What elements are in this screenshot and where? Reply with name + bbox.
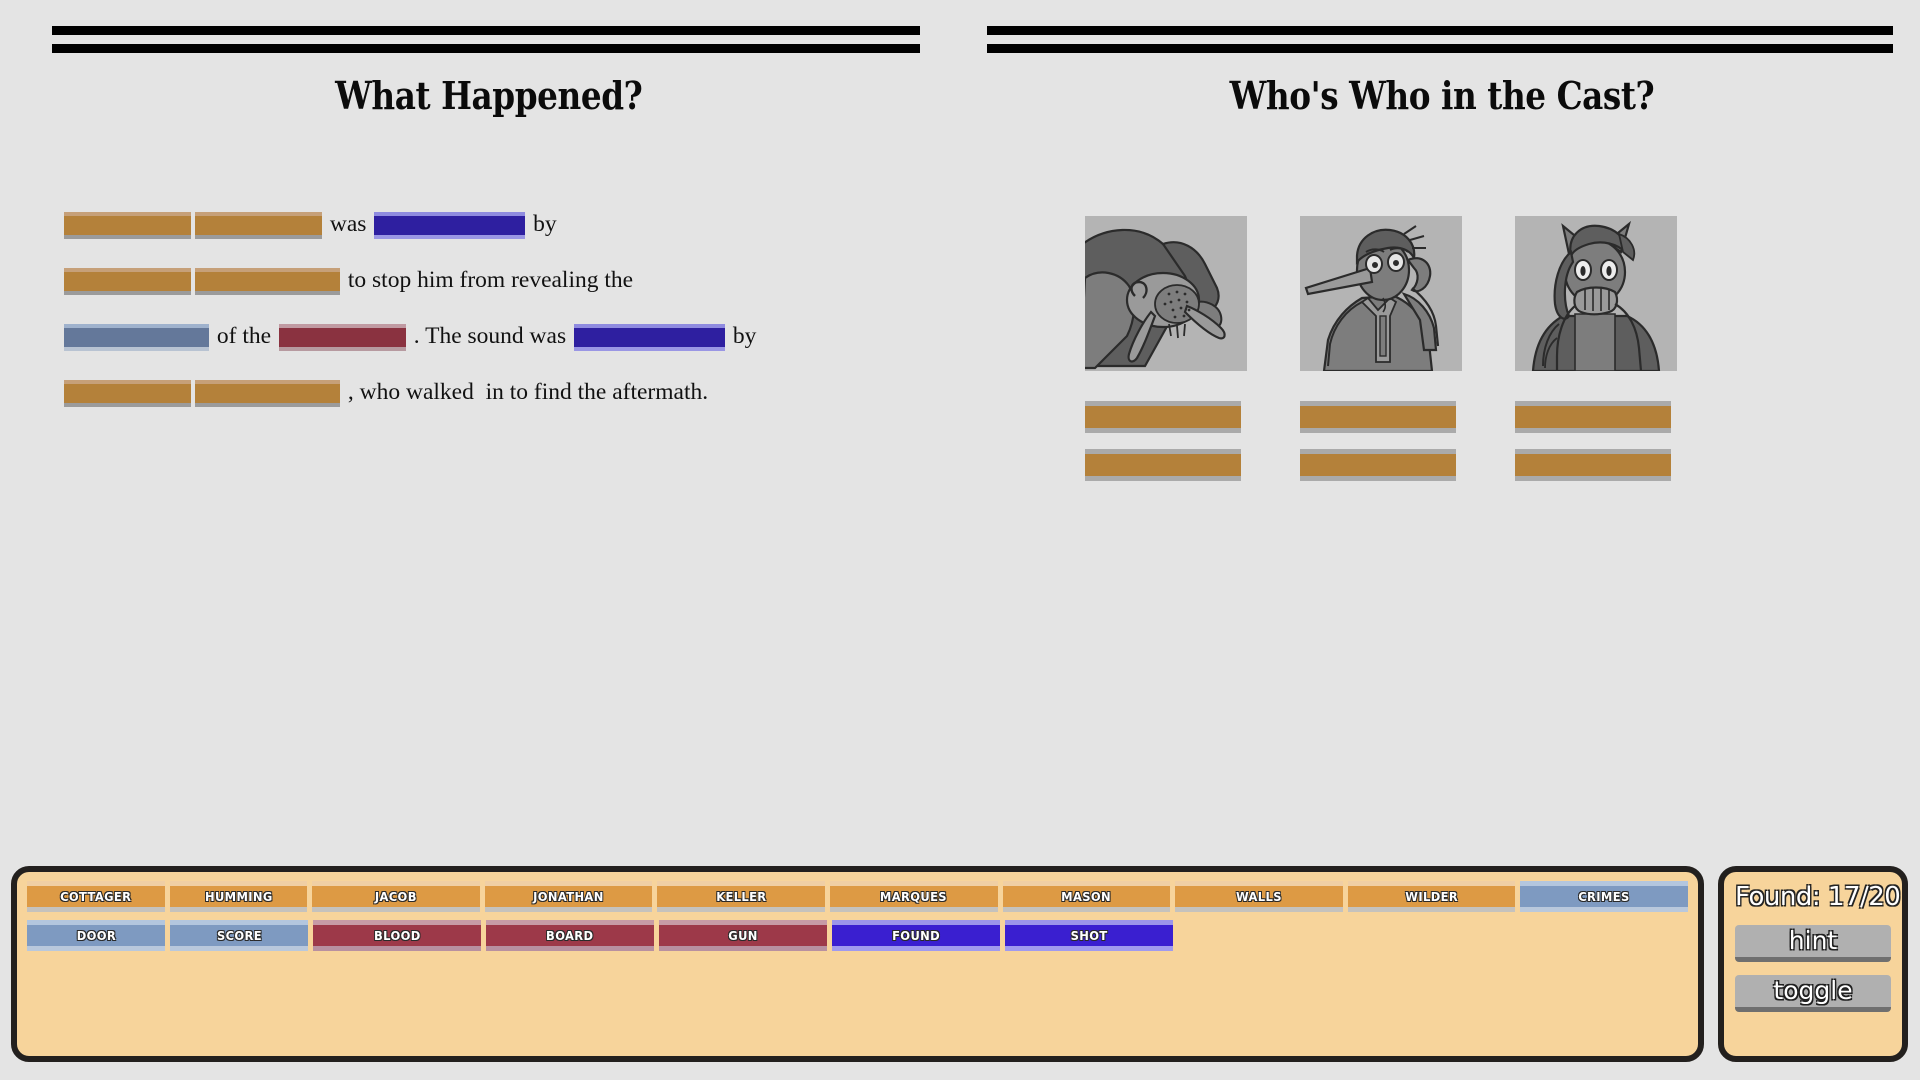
story-text: of the: [211, 323, 277, 349]
header-rule-top: [987, 26, 1893, 35]
word-tile-blood[interactable]: BLOOD: [313, 920, 481, 951]
story-text: , who walked in to find the aftermath.: [342, 379, 708, 405]
word-tile-gun[interactable]: GUN: [659, 920, 827, 951]
story-text: . The sound was: [408, 323, 572, 349]
cast-card: [1515, 216, 1677, 497]
word-tile-keller[interactable]: KELLER: [657, 881, 825, 912]
word-tile-label: KELLER: [716, 889, 766, 904]
cast-card: [1300, 216, 1462, 497]
word-tile-label: JACOB: [375, 889, 417, 904]
status-panel: Found: 17/20 hint toggle: [1718, 866, 1908, 1062]
cast-blank-slot-person[interactable]: [1085, 449, 1241, 481]
word-tile-door[interactable]: DOOR: [27, 920, 165, 951]
word-tile-board[interactable]: BOARD: [486, 920, 654, 951]
header-rule-bottom: [987, 44, 1893, 53]
word-tile-label: SCORE: [216, 928, 261, 943]
word-tile-wilder[interactable]: WILDER: [1348, 881, 1516, 912]
story-text: by: [527, 211, 556, 237]
cast-blank-slot-person[interactable]: [1300, 449, 1456, 481]
cat-girl-shocked-portrait: [1515, 216, 1677, 371]
story-text: by: [727, 323, 756, 349]
cast-name-slots: [1085, 401, 1247, 481]
cast-name-slots: [1300, 401, 1462, 481]
word-tile-label: SHOT: [1070, 928, 1107, 943]
story-blank-slot-action[interactable]: [374, 212, 525, 239]
cast-blank-slot-person[interactable]: [1515, 449, 1671, 481]
word-tile-label: DOOR: [76, 928, 115, 943]
header-rule-top: [52, 26, 920, 35]
story-blank-slot-action[interactable]: [574, 324, 725, 351]
story-blank-slot-person[interactable]: [64, 268, 191, 295]
story-line: was by: [62, 196, 892, 252]
story-blank-slot-person[interactable]: [195, 268, 340, 295]
word-tile-cottager[interactable]: COTTAGER: [27, 881, 165, 912]
puzzle-game-screen: What Happened? was by to stop him from r…: [0, 0, 1920, 1080]
story-line: of the . The sound was by: [62, 308, 892, 364]
word-tile-humming[interactable]: HUMMING: [170, 881, 308, 912]
word-tile-label: COTTAGER: [60, 889, 131, 904]
word-tile-crimes[interactable]: CRIMES: [1520, 881, 1688, 912]
story-line: , who walked in to find the aftermath.: [62, 364, 892, 420]
cast-card: [1085, 216, 1247, 497]
word-tile-label: GUN: [728, 928, 758, 943]
word-tile-score[interactable]: SCORE: [170, 920, 308, 951]
word-tile-label: MASON: [1061, 889, 1111, 904]
whos-who-title: Who's Who in the Cast?: [1029, 73, 1879, 118]
word-tile-label: MARQUES: [880, 889, 947, 904]
word-tile-jacob[interactable]: JACOB: [312, 881, 480, 912]
story-paragraph: was by to stop him from revealing the of…: [62, 196, 892, 420]
story-text: was: [324, 211, 372, 237]
story-blank-slot-person[interactable]: [195, 212, 322, 239]
word-tile-found[interactable]: FOUND: [832, 920, 1000, 951]
header-rule-bottom: [52, 44, 920, 53]
cast-list: [1085, 216, 1677, 497]
word-tile-label: HUMMING: [205, 889, 273, 904]
cast-blank-slot-person[interactable]: [1300, 401, 1456, 433]
story-text: to stop him from revealing the: [342, 267, 633, 293]
story-blank-slot-person[interactable]: [195, 380, 340, 407]
right-header-rules: [987, 26, 1893, 53]
story-blank-slot-place[interactable]: [64, 324, 209, 351]
story-line: to stop him from revealing the: [62, 252, 892, 308]
what-happened-title: What Happened?: [76, 73, 1009, 118]
word-tile-label: FOUND: [892, 928, 940, 943]
word-tile-label: BLOOD: [374, 928, 421, 943]
word-tile-label: WALLS: [1236, 889, 1282, 904]
cast-blank-slot-person[interactable]: [1085, 401, 1241, 433]
word-bank-row: DOORSCOREBLOODBOARDGUNFOUNDSHOT: [27, 920, 1688, 951]
story-blank-slot-person[interactable]: [64, 212, 191, 239]
word-tile-label: CRIMES: [1578, 889, 1629, 904]
story-blank-slot-thing[interactable]: [279, 324, 406, 351]
word-bank-row: COTTAGERHUMMINGJACOBJONATHANKELLERMARQUE…: [27, 881, 1688, 912]
long-nose-man-listening-portrait: [1300, 216, 1462, 371]
cast-blank-slot-person[interactable]: [1515, 401, 1671, 433]
word-tile-shot[interactable]: SHOT: [1005, 920, 1173, 951]
word-tile-walls[interactable]: WALLS: [1175, 881, 1343, 912]
story-blank-slot-person[interactable]: [64, 380, 191, 407]
word-tile-label: BOARD: [546, 928, 593, 943]
word-tile-jonathan[interactable]: JONATHAN: [485, 881, 653, 912]
cast-name-slots: [1515, 401, 1677, 481]
hint-button[interactable]: hint: [1735, 925, 1891, 962]
walrus-character-portrait: [1085, 216, 1247, 371]
word-tile-marques[interactable]: MARQUES: [830, 881, 998, 912]
found-counter: Found: 17/20: [1735, 882, 1891, 912]
word-tile-label: WILDER: [1405, 889, 1458, 904]
word-tile-mason[interactable]: MASON: [1003, 881, 1171, 912]
word-bank-panel: COTTAGERHUMMINGJACOBJONATHANKELLERMARQUE…: [11, 866, 1704, 1062]
left-header-rules: [52, 26, 920, 53]
word-tile-label: JONATHAN: [533, 889, 604, 904]
toggle-button[interactable]: toggle: [1735, 975, 1891, 1012]
